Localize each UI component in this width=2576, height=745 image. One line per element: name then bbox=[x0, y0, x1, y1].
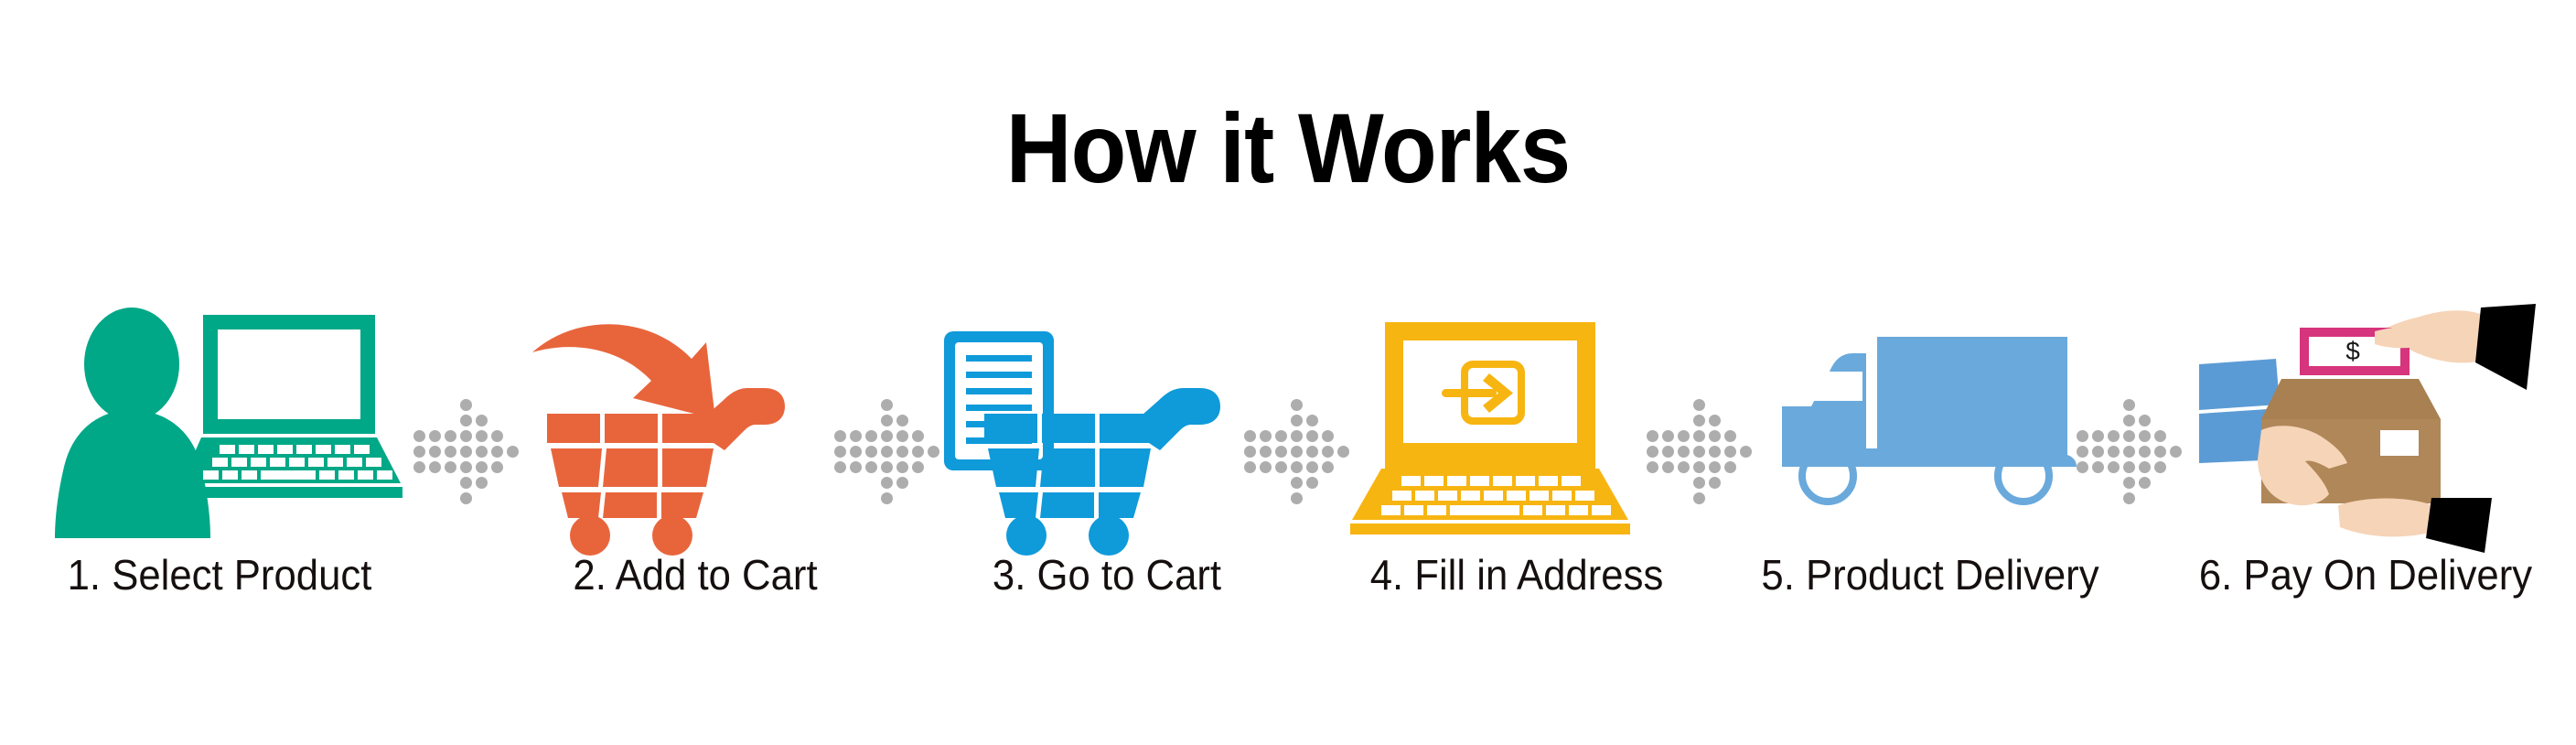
arrow-dot bbox=[413, 446, 425, 458]
arrow-dot bbox=[1322, 430, 1334, 442]
page-title: How it Works bbox=[103, 99, 2474, 198]
step-6-label: 6. Pay On Delivery bbox=[2184, 551, 2549, 599]
arrow-dot bbox=[1647, 430, 1658, 442]
upper-hand-sleeve bbox=[2475, 304, 2536, 390]
arrow-dot bbox=[896, 477, 908, 489]
arrow-separator-1 bbox=[413, 399, 516, 502]
arrow-dot bbox=[865, 430, 877, 442]
arrow-dot bbox=[850, 430, 862, 442]
arrow-dot bbox=[912, 446, 924, 458]
arrow-dot bbox=[2123, 461, 2135, 473]
arrow-dot bbox=[1709, 446, 1721, 458]
arrow-dot bbox=[1291, 461, 1303, 473]
arrow-dot bbox=[2092, 461, 2104, 473]
step-4-fill-in-address[interactable]: 4. Fill in Address bbox=[1334, 302, 1700, 668]
arrow-dot bbox=[881, 461, 893, 473]
arrow-dot bbox=[881, 430, 893, 442]
arrow-dot bbox=[1678, 461, 1690, 473]
arrow-dot bbox=[2077, 446, 2088, 458]
arrow-dot bbox=[1662, 461, 1674, 473]
arrow-dot bbox=[850, 461, 862, 473]
arrow-dot bbox=[2092, 430, 2104, 442]
step-5-product-delivery[interactable]: 5. Product Delivery bbox=[1738, 302, 2122, 668]
shopping-cart-with-arrow-icon bbox=[512, 302, 878, 549]
arrow-dot bbox=[896, 415, 908, 426]
arrow-dot bbox=[1322, 461, 1334, 473]
arrow-dot bbox=[2077, 461, 2088, 473]
arrow-dot bbox=[1291, 430, 1303, 442]
money-symbol: $ bbox=[2345, 337, 2360, 365]
arrow-dot bbox=[896, 430, 908, 442]
arrow-dot bbox=[1693, 415, 1705, 426]
arrow-dot bbox=[2092, 446, 2104, 458]
arrow-dot bbox=[912, 461, 924, 473]
steps-strip: 1. Select Product bbox=[0, 302, 2576, 668]
arrow-dot bbox=[2154, 430, 2166, 442]
arrow-dot bbox=[1306, 461, 1318, 473]
step-2-add-to-cart[interactable]: 2. Add to Cart bbox=[512, 302, 878, 668]
arrow-dot bbox=[460, 399, 472, 411]
arrow-dot bbox=[834, 430, 846, 442]
delivery-truck-icon bbox=[1738, 302, 2122, 549]
arrow-dot bbox=[2139, 430, 2151, 442]
arrow-dot bbox=[2154, 461, 2166, 473]
arrow-dot bbox=[1291, 477, 1303, 489]
step-3-label: 3. Go to Cart bbox=[933, 551, 1281, 599]
lower-hand-sleeve bbox=[2426, 498, 2492, 553]
arrow-dot bbox=[460, 461, 472, 473]
arrow-dot bbox=[1322, 446, 1334, 458]
arrow-dot bbox=[1724, 430, 1736, 442]
arrow-dot bbox=[912, 430, 924, 442]
step-1-select-product[interactable]: 1. Select Product bbox=[37, 302, 402, 668]
step-2-art bbox=[512, 302, 878, 549]
arrow-dot bbox=[865, 461, 877, 473]
step-1-art bbox=[37, 302, 402, 549]
arrow-separator-5 bbox=[2077, 399, 2179, 502]
arrow-dot bbox=[2123, 399, 2135, 411]
arrow-dot bbox=[1260, 446, 1272, 458]
step-1-label: 1. Select Product bbox=[46, 551, 393, 599]
arrow-dot bbox=[491, 430, 503, 442]
how-it-works-infographic: How it Works bbox=[0, 0, 2576, 745]
arrow-dot bbox=[445, 446, 456, 458]
arrow-dot bbox=[476, 477, 488, 489]
arrow-dot bbox=[2123, 446, 2135, 458]
arrow-dot bbox=[1709, 430, 1721, 442]
step-3-go-to-cart[interactable]: 3. Go to Cart bbox=[924, 302, 1290, 668]
arrow-dot bbox=[429, 430, 441, 442]
arrow-dot bbox=[1291, 415, 1303, 426]
arrow-dot bbox=[1709, 477, 1721, 489]
arrow-dot bbox=[429, 461, 441, 473]
arrow-dot bbox=[896, 446, 908, 458]
arrow-dot bbox=[1724, 461, 1736, 473]
step-3-art bbox=[924, 302, 1290, 549]
arrow-dot bbox=[1291, 492, 1303, 504]
arrow-dot bbox=[2154, 446, 2166, 458]
arrow-separator-2 bbox=[834, 399, 937, 502]
arrow-dot bbox=[2139, 461, 2151, 473]
arrow-dot bbox=[865, 446, 877, 458]
arrow-dot bbox=[881, 446, 893, 458]
arrow-dot bbox=[476, 446, 488, 458]
arrow-dot bbox=[1306, 430, 1318, 442]
step-2-label: 2. Add to Cart bbox=[521, 551, 869, 599]
arrow-dot bbox=[460, 430, 472, 442]
arrow-dot bbox=[2139, 415, 2151, 426]
step-4-label: 4. Fill in Address bbox=[1343, 551, 1690, 599]
arrow-dot bbox=[2108, 430, 2120, 442]
arrow-dot bbox=[1709, 461, 1721, 473]
hands-exchanging-box-and-money-icon: $ bbox=[2173, 302, 2558, 549]
arrow-dot bbox=[460, 477, 472, 489]
step-4-art bbox=[1334, 302, 1700, 549]
arrow-dot bbox=[850, 446, 862, 458]
arrow-dot bbox=[1275, 461, 1287, 473]
arrow-dot bbox=[1662, 446, 1674, 458]
arrow-dot bbox=[881, 477, 893, 489]
arrow-dot bbox=[413, 461, 425, 473]
arrow-dot bbox=[1306, 415, 1318, 426]
arrow-dot bbox=[2108, 446, 2120, 458]
arrow-dot bbox=[2077, 430, 2088, 442]
arrow-dot bbox=[1693, 461, 1705, 473]
arrow-dot bbox=[1693, 446, 1705, 458]
arrow-dot bbox=[1291, 446, 1303, 458]
arrow-dot bbox=[1244, 446, 1256, 458]
arrow-dot bbox=[460, 415, 472, 426]
arrow-dot bbox=[476, 415, 488, 426]
arrow-dot bbox=[1244, 430, 1256, 442]
person-at-laptop-icon bbox=[37, 302, 402, 549]
arrow-dot bbox=[1275, 430, 1287, 442]
arrow-dot bbox=[896, 461, 908, 473]
left-sleeve-upper bbox=[2199, 359, 2280, 410]
arrow-dot bbox=[1260, 430, 1272, 442]
arrow-dot bbox=[834, 446, 846, 458]
arrow-dot bbox=[1647, 461, 1658, 473]
arrow-dot bbox=[445, 461, 456, 473]
step-6-pay-on-delivery[interactable]: $ bbox=[2173, 302, 2558, 668]
laptop-with-login-arrow-icon bbox=[1334, 302, 1700, 549]
arrow-separator-4 bbox=[1647, 399, 1749, 502]
arrow-separator-3 bbox=[1244, 399, 1347, 502]
arrow-dot bbox=[834, 461, 846, 473]
arrow-dot bbox=[881, 492, 893, 504]
arrow-dot bbox=[1724, 446, 1736, 458]
shipping-label bbox=[2380, 430, 2419, 456]
arrow-dot bbox=[881, 415, 893, 426]
arrow-dot bbox=[2123, 492, 2135, 504]
arrow-dot bbox=[1647, 446, 1658, 458]
arrow-dot bbox=[1678, 446, 1690, 458]
lower-hand-skin bbox=[2338, 499, 2437, 537]
arrow-dot bbox=[1260, 461, 1272, 473]
arrow-dot bbox=[1306, 477, 1318, 489]
arrow-dot bbox=[1306, 446, 1318, 458]
arrow-dot bbox=[1678, 430, 1690, 442]
arrow-dot bbox=[491, 446, 503, 458]
arrow-dot bbox=[2123, 477, 2135, 489]
arrow-dot bbox=[1693, 430, 1705, 442]
arrow-dot bbox=[460, 492, 472, 504]
document-and-cart-icon bbox=[924, 302, 1290, 549]
arrow-dot bbox=[2139, 477, 2151, 489]
arrow-dot bbox=[2123, 430, 2135, 442]
arrow-dot bbox=[476, 461, 488, 473]
arrow-dot bbox=[1244, 461, 1256, 473]
step-5-label: 5. Product Delivery bbox=[1748, 551, 2113, 599]
arrow-dot bbox=[881, 399, 893, 411]
arrow-dot bbox=[1275, 446, 1287, 458]
arrow-dot bbox=[413, 430, 425, 442]
arrow-dot bbox=[1693, 399, 1705, 411]
arrow-dot bbox=[1662, 430, 1674, 442]
arrow-dot bbox=[2139, 446, 2151, 458]
step-6-art: $ bbox=[2173, 302, 2558, 549]
arrow-dot bbox=[1693, 492, 1705, 504]
step-5-art bbox=[1738, 302, 2122, 549]
arrow-dot bbox=[445, 430, 456, 442]
arrow-dot bbox=[476, 430, 488, 442]
arrow-dot bbox=[429, 446, 441, 458]
arrow-dot bbox=[1693, 477, 1705, 489]
arrow-dot bbox=[2123, 415, 2135, 426]
arrow-dot bbox=[1709, 415, 1721, 426]
arrow-dot bbox=[1291, 399, 1303, 411]
arrow-dot bbox=[491, 461, 503, 473]
arrow-dot bbox=[2108, 461, 2120, 473]
arrow-dot bbox=[460, 446, 472, 458]
